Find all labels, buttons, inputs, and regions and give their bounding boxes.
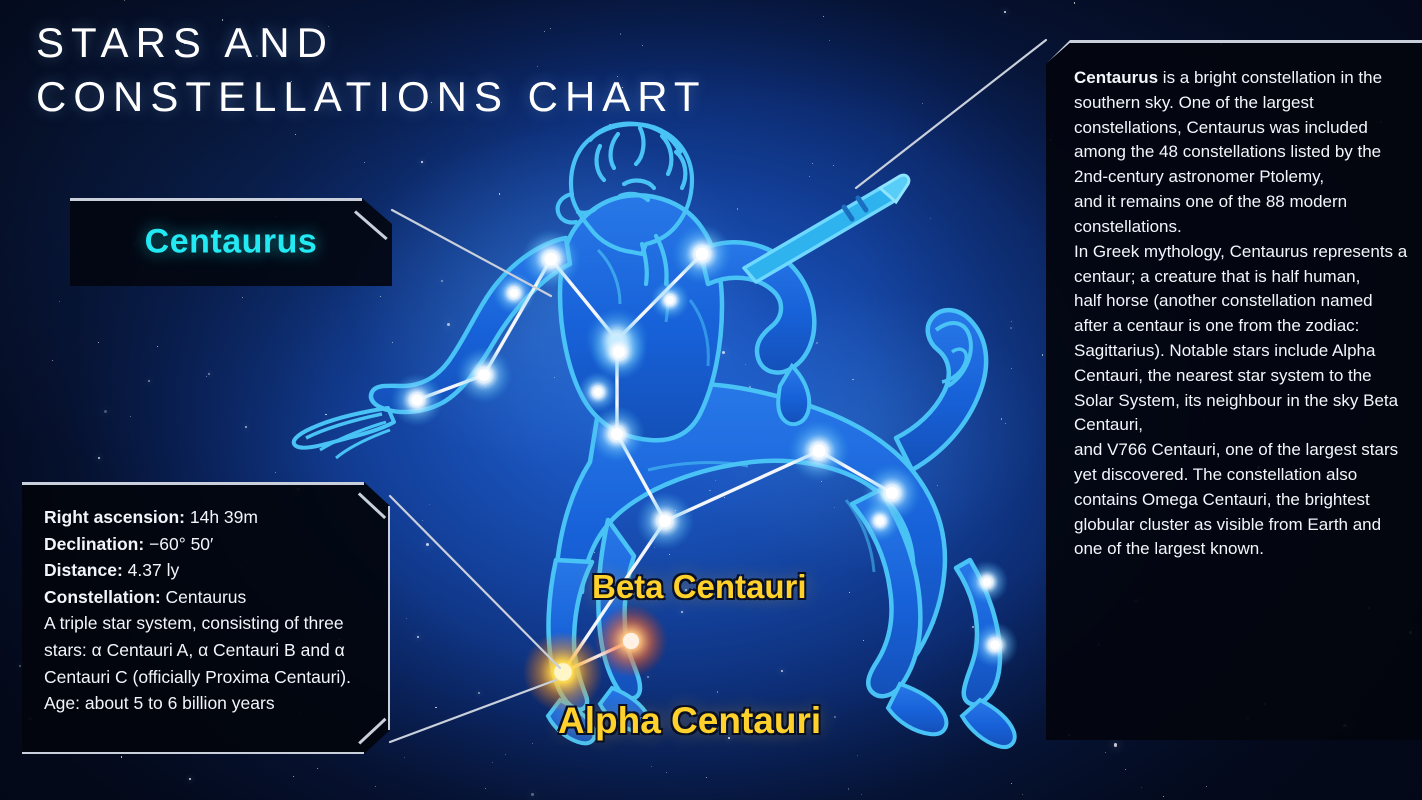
constellation-label-text: Centaurus	[70, 223, 392, 262]
info-edge-top	[22, 482, 364, 485]
star-rear-hoof	[983, 578, 992, 587]
info-row: Right ascension: 14h 39m	[44, 504, 364, 531]
info-row: Constellation: Centaurus	[44, 584, 364, 611]
info-row-key: Declination:	[44, 534, 144, 554]
info-paragraph: Age: about 5 to 6 billion years	[44, 690, 364, 717]
info-paragraph: A triple star system, consisting of thre…	[44, 610, 364, 690]
leader-info-top	[390, 496, 560, 668]
leader-side-panel	[856, 40, 1046, 188]
star-chest-core-2	[613, 346, 625, 358]
star-hand	[411, 394, 422, 405]
info-row-key: Distance:	[44, 560, 123, 580]
info-row-key: Right ascension:	[44, 507, 185, 527]
star-rear-hoof-2	[990, 640, 999, 649]
star-flank	[659, 515, 671, 527]
leader-info-bottom	[390, 680, 556, 742]
star-torso-low	[611, 428, 623, 440]
description-paragraph: half horse (another constellation named …	[1074, 289, 1408, 438]
info-box-text: Right ascension: 14h 39mDeclination: −60…	[44, 504, 364, 717]
description-paragraph: and V766 Centauri, one of the largest st…	[1074, 438, 1408, 562]
star-back-ridge	[812, 444, 825, 457]
description-paragraph: Centaurus is a bright constellation in t…	[1074, 66, 1408, 190]
constellation-label-box[interactable]: Centaurus	[70, 198, 392, 286]
star-shoulder-right	[696, 248, 709, 261]
info-row: Declination: −60° 50′	[44, 531, 364, 558]
star-haunch	[886, 487, 898, 499]
info-row: Distance: 4.37 ly	[44, 557, 364, 584]
alpha-centauri-label: Alpha Centauri	[558, 700, 821, 742]
star-arm-upper	[510, 289, 519, 298]
star-beta-centauri	[623, 633, 639, 649]
description-panel-text: Centaurus is a bright constellation in t…	[1074, 66, 1408, 562]
page-title: STARS AND CONSTELLATIONS CHART	[36, 16, 707, 124]
star-chest-upper	[666, 296, 674, 304]
lead-term: Centaurus	[1074, 68, 1158, 87]
star-elbow	[478, 369, 490, 381]
box-edge-top	[70, 198, 362, 201]
side-edge-top	[1070, 40, 1422, 43]
info-edge-bottom	[22, 752, 364, 755]
infographic-canvas: STARS AND CONSTELLATIONS CHART Centaurus…	[0, 0, 1422, 800]
star-torso-mid	[594, 388, 602, 396]
star-shoulder-left	[545, 253, 558, 266]
spear	[744, 175, 909, 282]
info-row-key: Constellation:	[44, 587, 161, 607]
description-paragraph: In Greek mythology, Centaurus represents…	[1074, 240, 1408, 290]
alpha-centauri-info-box[interactable]: Right ascension: 14h 39mDeclination: −60…	[22, 482, 390, 754]
star-rear-leg	[876, 517, 884, 525]
beta-centauri-label: Beta Centauri	[592, 568, 807, 606]
description-panel[interactable]: Centaurus is a bright constellation in t…	[1046, 40, 1422, 740]
description-paragraph: and it remains one of the 88 modern cons…	[1074, 190, 1408, 240]
